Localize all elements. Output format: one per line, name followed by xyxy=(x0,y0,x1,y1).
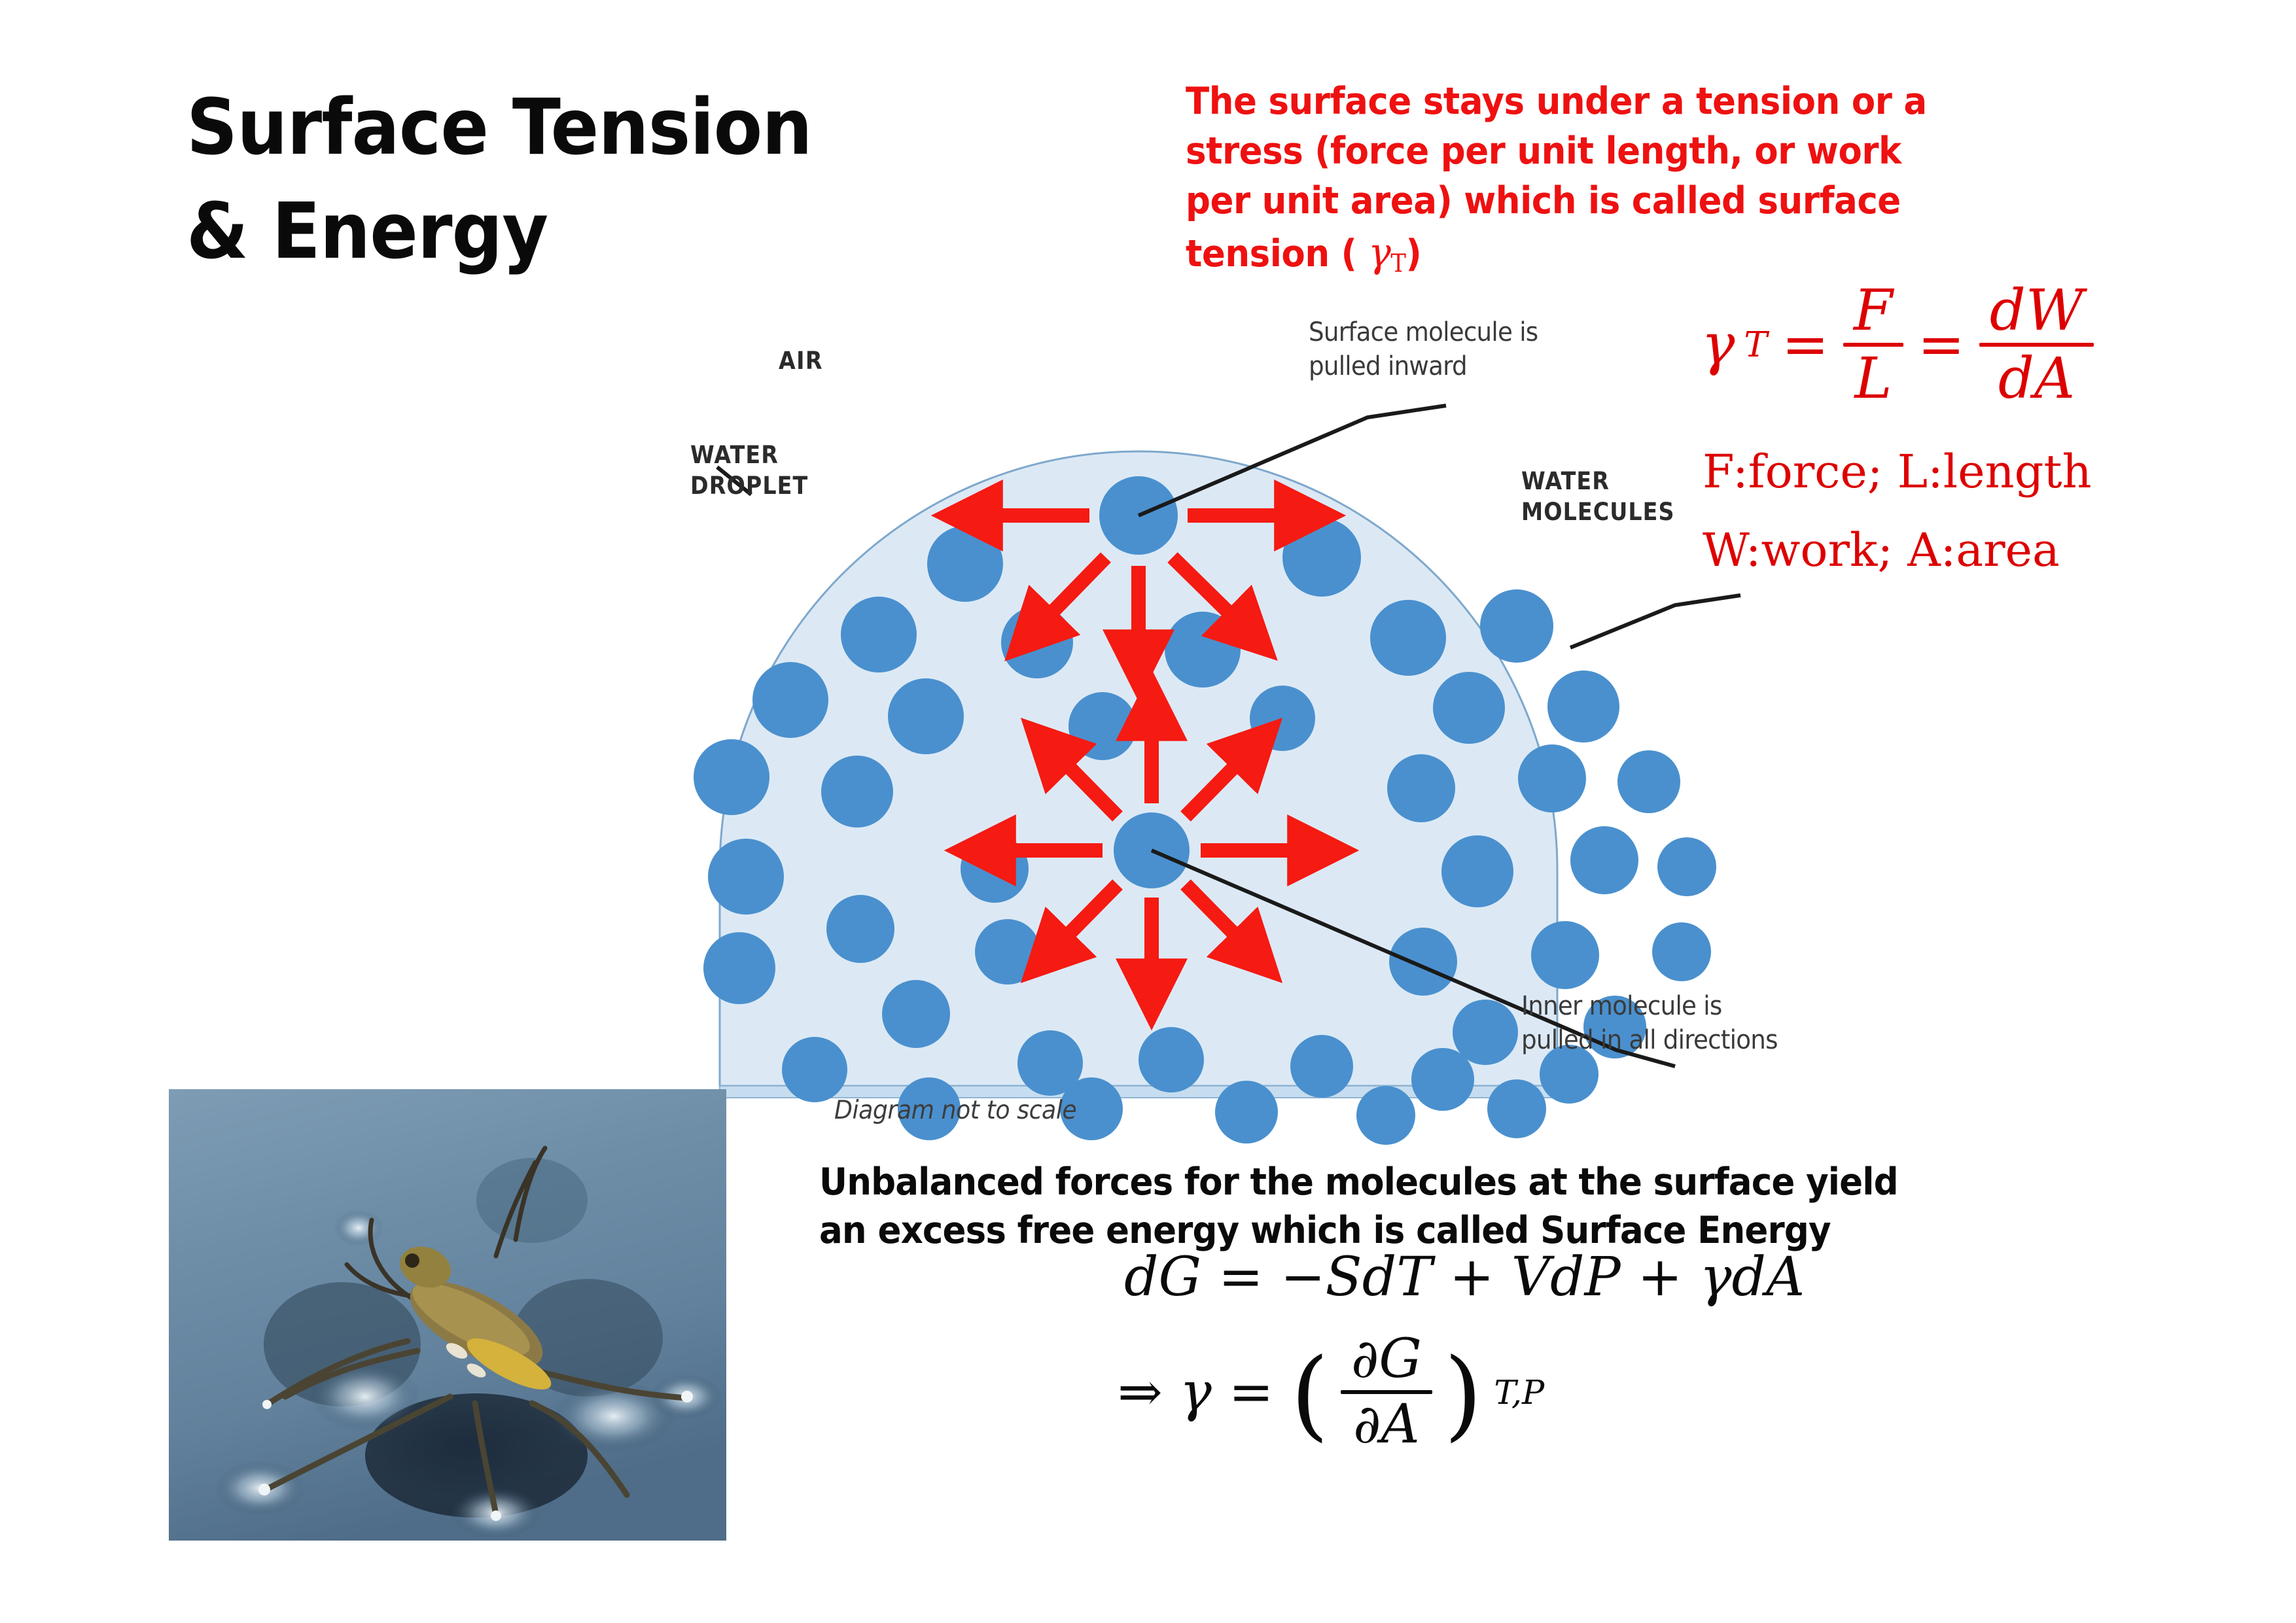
fraction-numerator-f: F xyxy=(1843,281,1903,343)
page-title: Surface Tension & Energy xyxy=(186,75,909,284)
fraction-denominator-da: dA xyxy=(1988,347,2085,408)
tension-line-4-suffix: ) xyxy=(1406,232,1422,275)
diagram-scale-note: Diagram not to scale xyxy=(834,1096,1076,1125)
inner-molecule-callout: Inner molecule is pulled in all directio… xyxy=(1521,989,1778,1057)
formula-equals-2: = xyxy=(1913,312,1970,377)
tension-line-2: stress (force per unit length, or work xyxy=(1186,127,2025,177)
gamma-symbol: γ xyxy=(1368,228,1390,276)
tension-line-1: The surface stays under a tension or a xyxy=(1186,77,2025,127)
surface-energy-paragraph: Unbalanced forces for the molecules at t… xyxy=(819,1158,2042,1255)
formula-equals-1: = xyxy=(1776,312,1834,377)
equals-symbol-3: = xyxy=(1224,1361,1279,1423)
tension-line-4: tension ( γT) xyxy=(1186,226,2025,280)
tension-line-3: per unit area) which is called surface xyxy=(1186,177,2025,226)
fraction-dw-over-da: dW dA xyxy=(1979,281,2094,409)
partial-a-denominator: ∂A xyxy=(1343,1394,1430,1453)
fraction-partial-g-over-partial-a: ∂G ∂A xyxy=(1341,1331,1432,1453)
water-droplet-label: WATER DROPLET xyxy=(690,440,808,502)
water-strider-photo xyxy=(169,1089,726,1541)
fraction-numerator-dw: dW xyxy=(1979,281,2094,343)
air-label: AIR xyxy=(779,347,823,375)
partial-g-numerator: ∂G xyxy=(1341,1331,1432,1390)
gibbs-free-energy-equation: dG = −SdT + VdP + γdA xyxy=(1124,1246,1805,1308)
tp-subscript: T,P xyxy=(1494,1373,1544,1412)
tension-line-4-prefix: tension ( xyxy=(1186,232,1368,275)
fraction-denominator-l: L xyxy=(1844,347,1902,408)
gamma-subscript-t: T xyxy=(1390,249,1405,278)
water-molecules-label: WATER MOLECULES xyxy=(1521,466,1675,528)
fraction-force-over-length: F L xyxy=(1843,281,1903,409)
energy-line-1: Unbalanced forces for the molecules at t… xyxy=(819,1158,2042,1206)
tension-definition-paragraph: The surface stays under a tension or a s… xyxy=(1186,77,2025,280)
gamma-partial-derivative-equation: ⇒ γ = ( ∂G ∂A ) T,P xyxy=(1112,1331,1544,1453)
surface-molecule-callout: Surface molecule is pulled inward xyxy=(1309,315,1538,383)
gamma-symbol-2: γ xyxy=(1180,1361,1212,1423)
implies-symbol: ⇒ xyxy=(1112,1361,1168,1423)
